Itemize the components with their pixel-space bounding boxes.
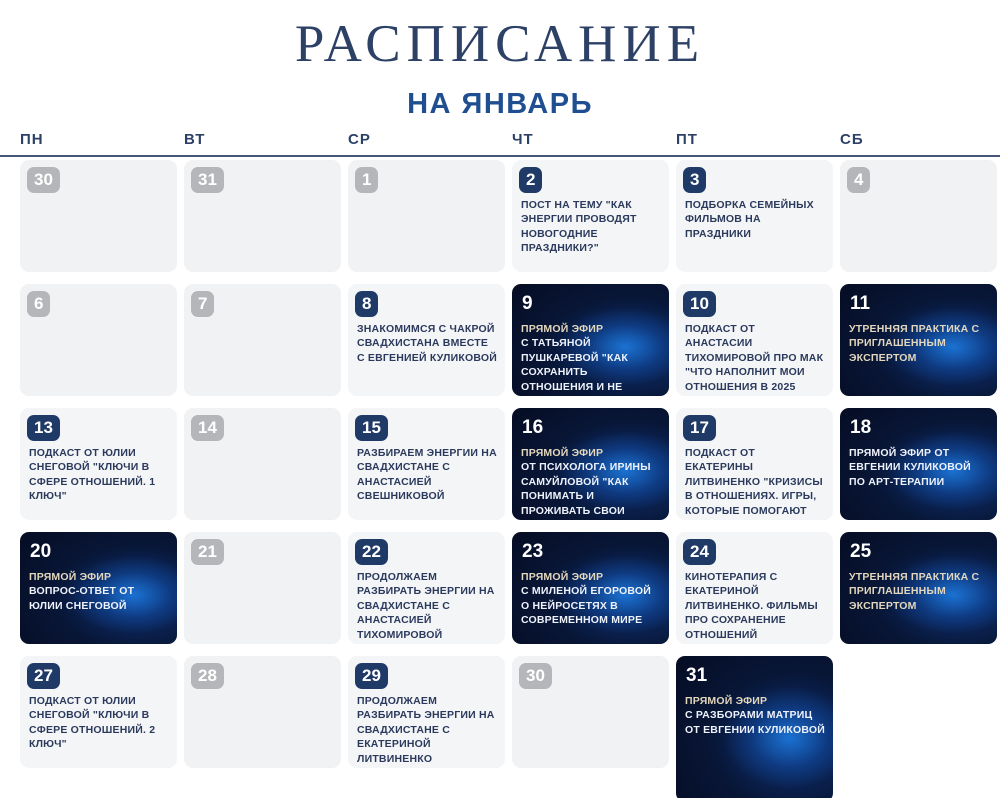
- date-badge: 6: [27, 291, 50, 317]
- event-text: ПРЯМОЙ ЭФИРС РАЗБОРАМИ МАТРИЦ ОТ ЕВГЕНИИ…: [685, 694, 825, 737]
- weekday-label-чт: ЧТ: [512, 131, 534, 148]
- calendar-cell-29[interactable]: 29ПРОДОЛЖАЕМ РАЗБИРАТЬ ЭНЕРГИИ НА СВАДХИ…: [348, 656, 505, 768]
- event-text: ПОДКАСТ ОТ ЮЛИИ СНЕГОВОЙ "КЛЮЧИ В СФЕРЕ …: [29, 446, 169, 504]
- date-badge: 2: [519, 167, 542, 193]
- weekday-header-row: ПНВТСРЧТПТСБ: [0, 131, 1000, 155]
- date-badge: 1: [355, 167, 378, 193]
- calendar-cell-4[interactable]: 4: [840, 160, 997, 272]
- event-description: ПРОДОЛЖАЕМ РАЗБИРАТЬ ЭНЕРГИИ НА СВАДХИСТ…: [357, 571, 495, 641]
- calendar-cell-27[interactable]: 27ПОДКАСТ ОТ ЮЛИИ СНЕГОВОЙ "КЛЮЧИ В СФЕР…: [20, 656, 177, 768]
- calendar-cell-18[interactable]: 18ПРЯМОЙ ЭФИР ОТ ЕВГЕНИИ КУЛИКОВОЙ ПО АР…: [840, 408, 997, 520]
- date-badge: 11: [850, 291, 873, 317]
- date-badge: 9: [522, 291, 545, 317]
- event-description: ПРОДОЛЖАЕМ РАЗБИРАТЬ ЭНЕРГИИ НА СВАДХИСТ…: [357, 695, 495, 765]
- event-text: ПРОДОЛЖАЕМ РАЗБИРАТЬ ЭНЕРГИИ НА СВАДХИСТ…: [357, 694, 497, 766]
- event-text: УТРЕННЯЯ ПРАКТИКА С ПРИГЛАШЕННЫМ ЭКСПЕРТ…: [849, 322, 989, 365]
- calendar-cell-23[interactable]: 23ПРЯМОЙ ЭФИРС МИЛЕНОЙ ЕГОРОВОЙ О НЕЙРОС…: [512, 532, 669, 644]
- calendar-cell-15[interactable]: 15РАЗБИРАЕМ ЭНЕРГИИ НА СВАДХИСТАНЕ С АНА…: [348, 408, 505, 520]
- event-text: ПОДКАСТ ОТ ЮЛИИ СНЕГОВОЙ "КЛЮЧИ В СФЕРЕ …: [29, 694, 169, 752]
- date-badge: 16: [522, 415, 545, 441]
- event-text: ПРЯМОЙ ЭФИРС МИЛЕНОЙ ЕГОРОВОЙ О НЕЙРОСЕТ…: [521, 570, 661, 628]
- calendar-cell-30[interactable]: 30: [20, 160, 177, 272]
- date-badge: 30: [519, 663, 552, 689]
- schedule-page: РАСПИСАНИЕ НА ЯНВАРЬ ПНВТСРЧТПТСБ 303112…: [0, 0, 1000, 798]
- date-badge: 8: [355, 291, 378, 317]
- date-badge: 18: [850, 415, 873, 441]
- date-badge: 24: [683, 539, 716, 565]
- event-description: РАЗБИРАЕМ ЭНЕРГИИ НА СВАДХИСТАНЕ С АНАСТ…: [357, 447, 497, 502]
- event-description: ПРЯМОЙ ЭФИР ОТ ЕВГЕНИИ КУЛИКОВОЙ ПО АРТ-…: [849, 447, 971, 488]
- event-text: ЗНАКОМИМСЯ С ЧАКРОЙ СВАДХИСТАНА ВМЕСТЕ С…: [357, 322, 497, 365]
- calendar-cell-13[interactable]: 13ПОДКАСТ ОТ ЮЛИИ СНЕГОВОЙ "КЛЮЧИ В СФЕР…: [20, 408, 177, 520]
- calendar-cell-31[interactable]: 31ПРЯМОЙ ЭФИРС РАЗБОРАМИ МАТРИЦ ОТ ЕВГЕН…: [676, 656, 833, 798]
- event-description: ЗНАКОМИМСЯ С ЧАКРОЙ СВАДХИСТАНА ВМЕСТЕ С…: [357, 323, 497, 364]
- event-text: ПРОДОЛЖАЕМ РАЗБИРАТЬ ЭНЕРГИИ НА СВАДХИСТ…: [357, 570, 497, 642]
- date-badge: 14: [191, 415, 224, 441]
- date-badge: 4: [847, 167, 870, 193]
- event-description: С ТАТЬЯНОЙ ПУШКАРЕВОЙ "КАК СОХРАНИТЬ ОТН…: [521, 337, 628, 396]
- event-text: ПРЯМОЙ ЭФИРС ТАТЬЯНОЙ ПУШКАРЕВОЙ "КАК СО…: [521, 322, 661, 396]
- date-badge: 15: [355, 415, 388, 441]
- page-subtitle: НА ЯНВАРЬ: [0, 88, 1000, 121]
- event-lead: ПРЯМОЙ ЭФИР: [521, 570, 661, 584]
- date-badge: 23: [522, 539, 545, 565]
- event-lead: ПРЯМОЙ ЭФИР: [29, 570, 169, 584]
- calendar-cell-6[interactable]: 6: [20, 284, 177, 396]
- date-badge: 20: [30, 539, 53, 565]
- event-description: С МИЛЕНОЙ ЕГОРОВОЙ О НЕЙРОСЕТЯХ В СОВРЕМ…: [521, 585, 651, 626]
- calendar-cell-3[interactable]: 3ПОДБОРКА СЕМЕЙНЫХ ФИЛЬМОВ НА ПРАЗДНИКИ: [676, 160, 833, 272]
- event-text: ПРЯМОЙ ЭФИРВОПРОС-ОТВЕТ ОТ ЮЛИИ СНЕГОВОЙ: [29, 570, 169, 613]
- date-badge: 7: [191, 291, 214, 317]
- event-description: УТРЕННЯЯ ПРАКТИКА С ПРИГЛАШЕННЫМ ЭКСПЕРТ…: [849, 323, 979, 364]
- event-description: ПОДКАСТ ОТ ЮЛИИ СНЕГОВОЙ "КЛЮЧИ В СФЕРЕ …: [29, 447, 155, 502]
- calendar-grid: 303112ПОСТ НА ТЕМУ "КАК ЭНЕРГИИ ПРОВОДЯТ…: [0, 160, 1000, 798]
- event-text: ПРЯМОЙ ЭФИРОТ ПСИХОЛОГА ИРИНЫ САМУЙЛОВОЙ…: [521, 446, 661, 520]
- event-text: КИНОТЕРАПИЯ С ЕКАТЕРИНОЙ ЛИТВИНЕНКО. ФИЛ…: [685, 570, 825, 642]
- event-description: ПОСТ НА ТЕМУ "КАК ЭНЕРГИИ ПРОВОДЯТ НОВОГ…: [521, 199, 637, 254]
- calendar-cell-30[interactable]: 30: [512, 656, 669, 768]
- date-badge: 25: [850, 539, 873, 565]
- date-badge: 29: [355, 663, 388, 689]
- event-text: ПОСТ НА ТЕМУ "КАК ЭНЕРГИИ ПРОВОДЯТ НОВОГ…: [521, 198, 661, 256]
- header-divider: [0, 155, 1000, 157]
- calendar-cell-10[interactable]: 10ПОДКАСТ ОТ АНАСТАСИИ ТИХОМИРОВОЙ ПРО М…: [676, 284, 833, 396]
- event-description: КИНОТЕРАПИЯ С ЕКАТЕРИНОЙ ЛИТВИНЕНКО. ФИЛ…: [685, 571, 818, 641]
- calendar-cell-14[interactable]: 14: [184, 408, 341, 520]
- calendar-cell-20[interactable]: 20ПРЯМОЙ ЭФИРВОПРОС-ОТВЕТ ОТ ЮЛИИ СНЕГОВ…: [20, 532, 177, 644]
- event-lead: ПРЯМОЙ ЭФИР: [521, 322, 661, 336]
- weekday-label-ср: СР: [348, 131, 371, 148]
- weekday-label-пн: ПН: [20, 131, 44, 148]
- event-description: ОТ ПСИХОЛОГА ИРИНЫ САМУЙЛОВОЙ "КАК ПОНИМ…: [521, 461, 651, 520]
- event-description: ПОДБОРКА СЕМЕЙНЫХ ФИЛЬМОВ НА ПРАЗДНИКИ: [685, 199, 814, 240]
- date-badge: 17: [683, 415, 716, 441]
- event-lead: ПРЯМОЙ ЭФИР: [521, 446, 661, 460]
- date-badge: 31: [686, 663, 709, 689]
- event-text: ПРЯМОЙ ЭФИР ОТ ЕВГЕНИИ КУЛИКОВОЙ ПО АРТ-…: [849, 446, 989, 489]
- event-description: ПОДКАСТ ОТ ЮЛИИ СНЕГОВОЙ "КЛЮЧИ В СФЕРЕ …: [29, 695, 155, 750]
- weekday-label-сб: СБ: [840, 131, 864, 148]
- page-title: РАСПИСАНИЕ: [0, 0, 1000, 71]
- event-description: С РАЗБОРАМИ МАТРИЦ ОТ ЕВГЕНИИ КУЛИКОВОЙ: [685, 709, 825, 735]
- date-badge: 30: [27, 167, 60, 193]
- calendar-cell-8[interactable]: 8ЗНАКОМИМСЯ С ЧАКРОЙ СВАДХИСТАНА ВМЕСТЕ …: [348, 284, 505, 396]
- calendar-cell-2[interactable]: 2ПОСТ НА ТЕМУ "КАК ЭНЕРГИИ ПРОВОДЯТ НОВО…: [512, 160, 669, 272]
- calendar-cell-7[interactable]: 7: [184, 284, 341, 396]
- date-badge: 28: [191, 663, 224, 689]
- event-description: УТРЕННЯЯ ПРАКТИКА С ПРИГЛАШЕННЫМ ЭКСПЕРТ…: [849, 571, 979, 612]
- date-badge: 10: [683, 291, 716, 317]
- calendar-cell-31[interactable]: 31: [184, 160, 341, 272]
- date-badge: 21: [191, 539, 224, 565]
- event-text: ПОДБОРКА СЕМЕЙНЫХ ФИЛЬМОВ НА ПРАЗДНИКИ: [685, 198, 825, 241]
- date-badge: 22: [355, 539, 388, 565]
- event-description: ВОПРОС-ОТВЕТ ОТ ЮЛИИ СНЕГОВОЙ: [29, 585, 134, 611]
- calendar-cell-9[interactable]: 9ПРЯМОЙ ЭФИРС ТАТЬЯНОЙ ПУШКАРЕВОЙ "КАК С…: [512, 284, 669, 396]
- event-description: ПОДКАСТ ОТ ЕКАТЕРИНЫ ЛИТВИНЕНКО "КРИЗИСЫ…: [685, 447, 823, 520]
- event-description: ПОДКАСТ ОТ АНАСТАСИИ ТИХОМИРОВОЙ ПРО МАК…: [685, 323, 823, 396]
- calendar-cell-25[interactable]: 25УТРЕННЯЯ ПРАКТИКА С ПРИГЛАШЕННЫМ ЭКСПЕ…: [840, 532, 997, 644]
- calendar-cell-28[interactable]: 28: [184, 656, 341, 768]
- calendar-cell-21[interactable]: 21: [184, 532, 341, 644]
- calendar-cell-24[interactable]: 24КИНОТЕРАПИЯ С ЕКАТЕРИНОЙ ЛИТВИНЕНКО. Ф…: [676, 532, 833, 644]
- date-badge: 13: [27, 415, 60, 441]
- calendar-cell-16[interactable]: 16ПРЯМОЙ ЭФИРОТ ПСИХОЛОГА ИРИНЫ САМУЙЛОВ…: [512, 408, 669, 520]
- date-badge: 3: [683, 167, 706, 193]
- event-text: РАЗБИРАЕМ ЭНЕРГИИ НА СВАДХИСТАНЕ С АНАСТ…: [357, 446, 497, 504]
- event-text: ПОДКАСТ ОТ АНАСТАСИИ ТИХОМИРОВОЙ ПРО МАК…: [685, 322, 825, 396]
- calendar-cell-1[interactable]: 1: [348, 160, 505, 272]
- calendar-cell-11[interactable]: 11УТРЕННЯЯ ПРАКТИКА С ПРИГЛАШЕННЫМ ЭКСПЕ…: [840, 284, 997, 396]
- date-badge: 31: [191, 167, 224, 193]
- weekday-label-вт: ВТ: [184, 131, 205, 148]
- date-badge: 27: [27, 663, 60, 689]
- calendar-cell-22[interactable]: 22ПРОДОЛЖАЕМ РАЗБИРАТЬ ЭНЕРГИИ НА СВАДХИ…: [348, 532, 505, 644]
- event-text: ПОДКАСТ ОТ ЕКАТЕРИНЫ ЛИТВИНЕНКО "КРИЗИСЫ…: [685, 446, 825, 520]
- weekday-label-пт: ПТ: [676, 131, 698, 148]
- event-lead: ПРЯМОЙ ЭФИР: [685, 694, 825, 708]
- event-text: УТРЕННЯЯ ПРАКТИКА С ПРИГЛАШЕННЫМ ЭКСПЕРТ…: [849, 570, 989, 613]
- calendar-cell-17[interactable]: 17ПОДКАСТ ОТ ЕКАТЕРИНЫ ЛИТВИНЕНКО "КРИЗИ…: [676, 408, 833, 520]
